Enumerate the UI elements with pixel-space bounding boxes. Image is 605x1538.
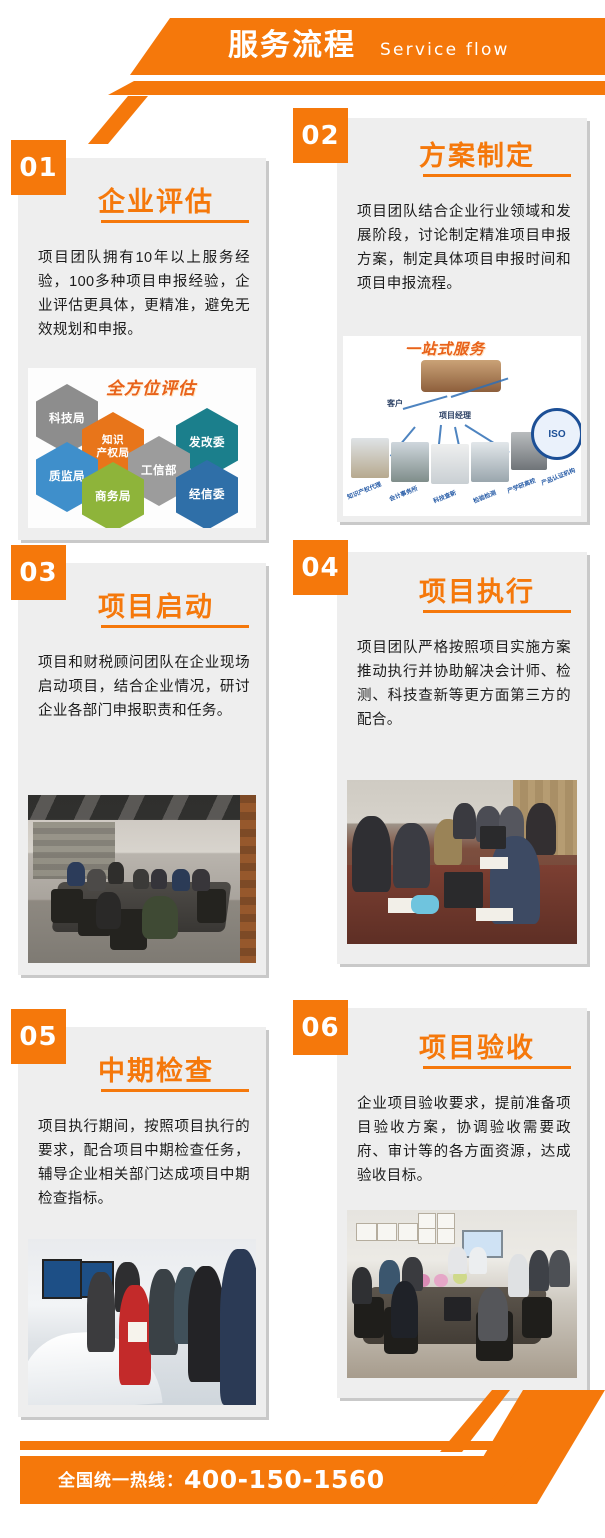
page-subtitle: Service flow xyxy=(380,38,510,62)
laptop xyxy=(480,826,505,849)
hotline-label: 全国统一热线： xyxy=(58,1471,184,1490)
card-02: 方案制定 项目团队结合企业行业领域和发展阶段，讨论制定精准项目申报方案，制定具体… xyxy=(337,118,587,522)
meeting-room-photo xyxy=(28,795,256,963)
person xyxy=(192,869,210,891)
card-05-badge: 05 xyxy=(11,1009,66,1064)
service-label-university: 产学研高校 xyxy=(506,475,537,495)
service-node-ip xyxy=(351,438,389,478)
laptop xyxy=(444,872,483,908)
card-01: 企业评估 项目团队拥有10年以上服务经验，100多种项目申报经验，企业评估更具体… xyxy=(18,158,266,540)
paper xyxy=(476,908,513,921)
card-01-body: 项目团队拥有10年以上服务经验，100多种项目申报经验，企业评估更具体，更精准，… xyxy=(38,246,250,342)
person xyxy=(220,1249,256,1405)
card-04-body: 项目团队严格按照项目实施方案推动执行并协助解决会计师、检测、科技查新等更方面第三… xyxy=(357,636,571,732)
card-02-badge: 02 xyxy=(293,108,348,163)
person xyxy=(108,862,124,884)
card-06-badge: 06 xyxy=(293,1000,348,1055)
card-03: 项目启动 项目和财税顾问团队在企业现场启动项目，结合企业情况，研讨企业各部门申报… xyxy=(18,563,266,975)
card-04-title-rule xyxy=(423,610,571,613)
wall-certificate xyxy=(437,1213,455,1228)
person xyxy=(142,896,178,940)
card-03-body: 项目和财税顾问团队在企业现场启动项目，结合企业情况，研讨企业各部门申报职责和任务… xyxy=(38,651,250,723)
person xyxy=(469,1247,487,1274)
header-stripe xyxy=(108,81,605,95)
hex-diagram: 全方位评估 科技局 知识产权局 发改委 质监局 工信部 商务局 经信委 xyxy=(28,368,256,528)
ceiling-detail xyxy=(28,795,256,820)
wall-certificate xyxy=(418,1228,436,1243)
card-02-title-rule xyxy=(423,174,571,177)
service-diagram-title: 一站式服务 xyxy=(405,338,485,359)
wood-wall-detail xyxy=(240,795,256,963)
wall-certificate xyxy=(356,1223,376,1240)
person xyxy=(188,1266,224,1382)
service-seal-icon: ISO xyxy=(531,408,581,460)
chair xyxy=(197,889,227,923)
person xyxy=(352,1267,373,1304)
header: 服务流程 Service flow xyxy=(0,0,605,118)
person xyxy=(478,1287,508,1341)
display-screen xyxy=(42,1259,82,1300)
hex-diagram-title: 全方位评估 xyxy=(106,374,196,399)
person xyxy=(453,803,476,839)
service-node-accounting xyxy=(391,442,429,482)
card-05: 中期检查 项目执行期间，按照项目执行的要求，配合项目中期检查任务，辅导企业相关部… xyxy=(18,1027,266,1417)
working-session-photo xyxy=(347,780,577,944)
one-stop-service-diagram: 一站式服务 客户 项目经理 ISO 知识产权代理 会计事务所 科技查新 检验检测… xyxy=(343,336,581,516)
card-02-body: 项目团队结合企业行业领域和发展阶段，讨论制定精准项目申报方案，制定具体项目申报时… xyxy=(357,200,571,296)
person xyxy=(529,1250,550,1290)
person xyxy=(172,869,190,891)
card-01-title: 企业评估 xyxy=(98,180,214,219)
page-title: 服务流程 xyxy=(228,26,356,66)
service-label-accounting: 会计事务所 xyxy=(388,483,419,503)
wall-certificate xyxy=(377,1223,397,1240)
service-label-novelty: 科技查新 xyxy=(432,488,458,505)
card-06-body: 企业项目验收要求，提前准备项目验收方案，协调验收需要政府、审计等的各方面资源，达… xyxy=(357,1092,571,1188)
person xyxy=(391,1281,419,1338)
boardroom-photo xyxy=(347,1210,577,1378)
brochure xyxy=(128,1322,146,1342)
card-03-title: 项目启动 xyxy=(98,585,214,624)
card-03-badge: 03 xyxy=(11,545,66,600)
person xyxy=(87,1272,114,1352)
person xyxy=(87,869,105,891)
hotline-number[interactable]: 400-150-1560 xyxy=(184,1465,385,1494)
service-label-testing: 检验检测 xyxy=(472,488,498,505)
person xyxy=(67,862,85,886)
card-01-badge: 01 xyxy=(11,140,66,195)
header-banner xyxy=(130,18,605,75)
service-team-photo xyxy=(421,360,501,392)
bag xyxy=(411,895,439,915)
card-02-title: 方案制定 xyxy=(419,134,535,173)
service-arrow-1 xyxy=(403,395,448,410)
person xyxy=(133,869,149,889)
person xyxy=(352,816,391,891)
card-06-title: 项目验收 xyxy=(419,1026,535,1065)
showroom-visit-photo xyxy=(28,1239,256,1405)
card-04: 项目执行 项目团队严格按照项目实施方案推动执行并协助解决会计师、检测、科技查新等… xyxy=(337,552,587,964)
paper xyxy=(480,857,508,868)
card-05-title: 中期检查 xyxy=(98,1049,214,1088)
wall-certificate xyxy=(398,1223,418,1240)
card-03-title-rule xyxy=(101,625,249,628)
card-04-title: 项目执行 xyxy=(419,570,535,609)
laptop xyxy=(444,1297,472,1321)
card-05-body: 项目执行期间，按照项目执行的要求，配合项目中期检查任务，辅导企业相关部门达成项目… xyxy=(38,1115,250,1211)
wall-certificate xyxy=(418,1213,436,1228)
service-center-label: 项目经理 xyxy=(439,410,471,421)
card-05-title-rule xyxy=(101,1089,249,1092)
service-node-novelty xyxy=(431,444,469,484)
service-client-label: 客户 xyxy=(387,398,403,409)
card-06: 项目验收 企业项目验收要求，提前准备项目验收方案，协调验收需要政府、审计等的各方… xyxy=(337,1008,587,1398)
header-diagonal-accent xyxy=(88,96,148,144)
footer-stripe xyxy=(20,1441,540,1450)
service-flow-poster: 服务流程 Service flow 企业评估 项目团队拥有10年以上服务经验，1… xyxy=(0,0,605,1538)
wall-certificate xyxy=(437,1228,455,1243)
service-node-testing xyxy=(471,442,509,482)
person xyxy=(151,869,167,889)
person xyxy=(96,892,121,929)
chair xyxy=(522,1297,552,1337)
person xyxy=(448,1247,466,1274)
card-04-badge: 04 xyxy=(293,540,348,595)
card-01-title-rule xyxy=(101,220,249,223)
service-label-ip: 知识产权代理 xyxy=(346,479,383,501)
flower-decoration xyxy=(434,1274,448,1287)
person xyxy=(393,823,430,889)
person xyxy=(549,1250,570,1287)
hotline: 全国统一热线：400-150-1560 xyxy=(58,1466,385,1495)
card-06-title-rule xyxy=(423,1066,571,1069)
person xyxy=(508,1254,529,1298)
